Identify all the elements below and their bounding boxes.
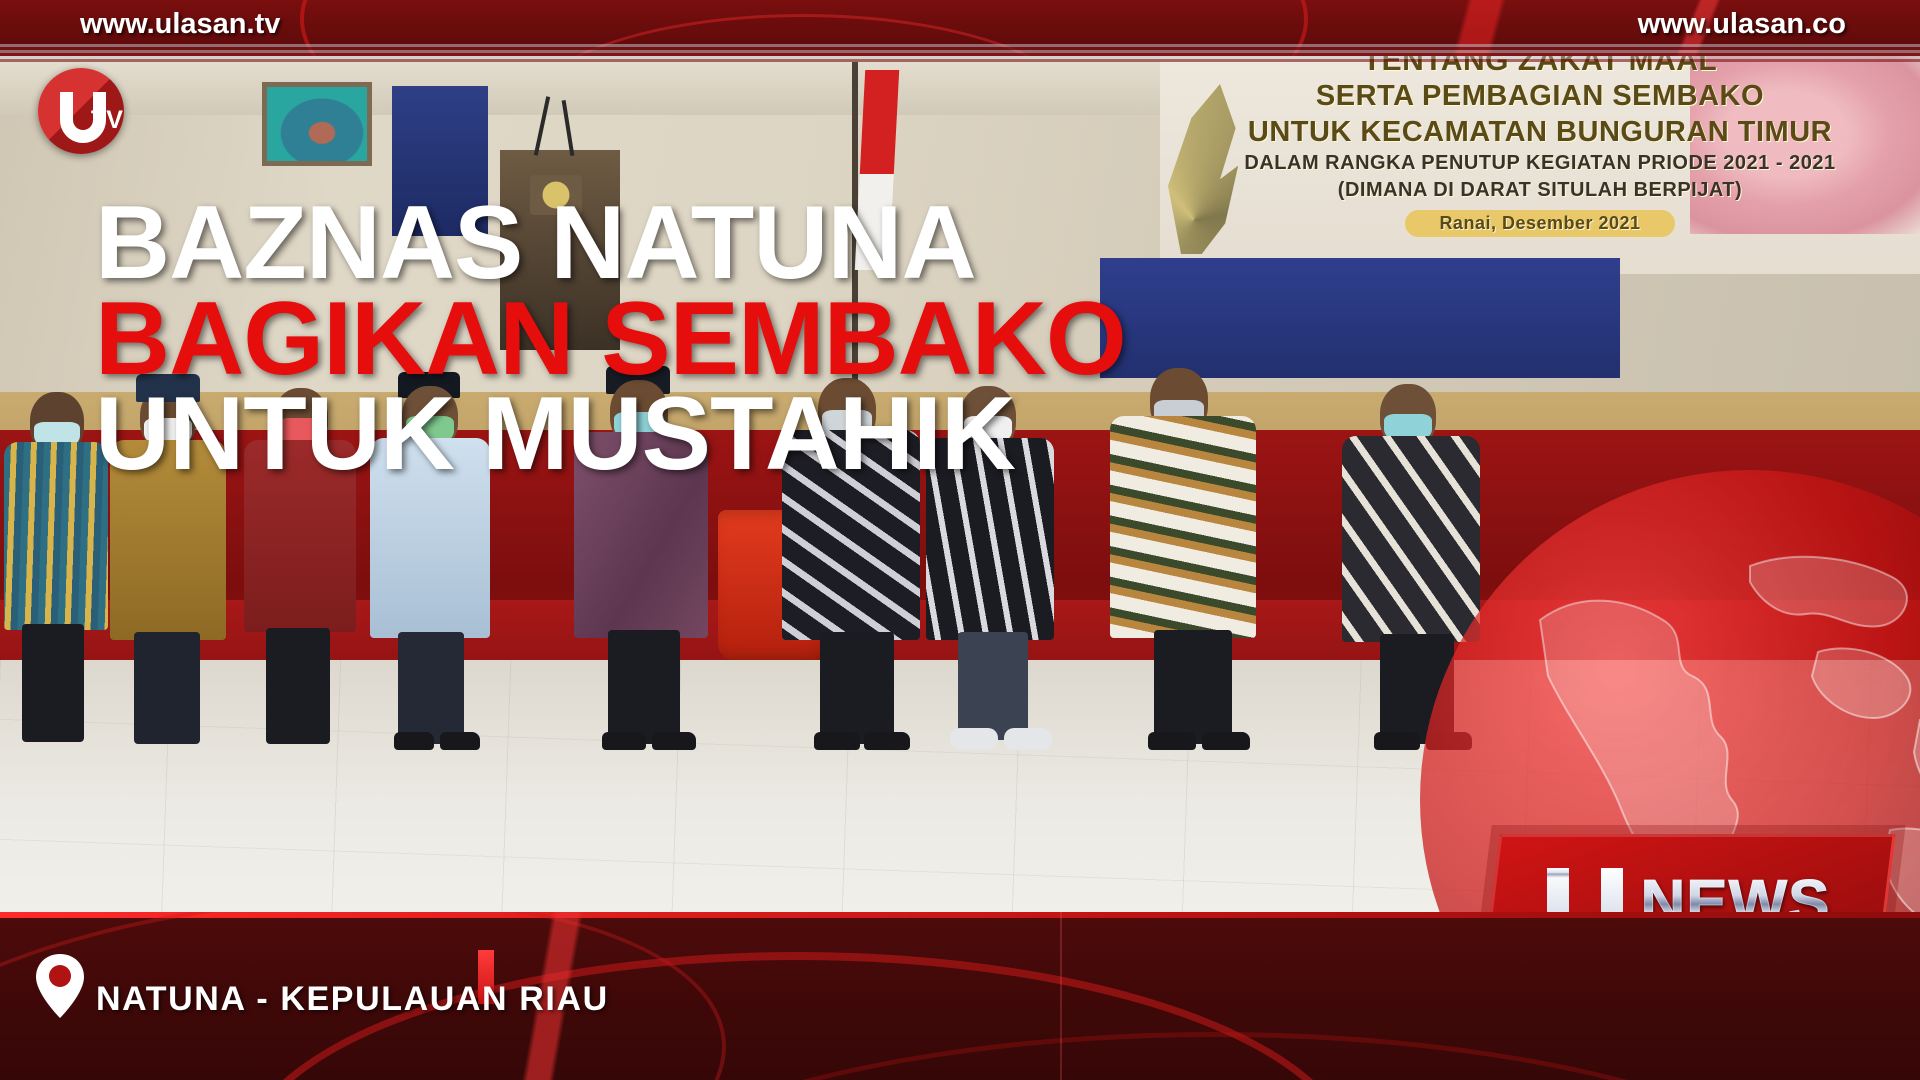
- website-url-co[interactable]: www.ulasan.co: [1638, 8, 1846, 41]
- top-bar-stripes: [0, 44, 1920, 62]
- banner-line-3: UNTUK KECAMATAN BUNGURAN TIMUR: [1160, 116, 1920, 149]
- svg-text:TV: TV: [91, 106, 123, 134]
- decor-vertical-line: [1060, 912, 1062, 1080]
- map-pin-icon: [34, 952, 86, 1020]
- news-thumbnail: TENTANG ZAKAT MAAL SERTA PEMBAGIAN SEMBA…: [0, 0, 1920, 1080]
- banner-line-2: SERTA PEMBAGIAN SEMBAKO: [1160, 80, 1920, 113]
- headline-line-2: BAGIKAN SEMBAKO: [95, 292, 1275, 388]
- bottom-location-bar: NATUNA - KEPULAUAN RIAU: [0, 912, 1920, 1080]
- location-label: NATUNA - KEPULAUAN RIAU: [96, 980, 609, 1019]
- utv-logo[interactable]: TV: [38, 68, 124, 154]
- headline-line-3: UNTUK MUSTAHIK: [95, 387, 1275, 483]
- wall-painting: [262, 82, 372, 166]
- tv-letters-icon: TV: [91, 106, 123, 134]
- website-url-tv[interactable]: www.ulasan.tv: [80, 8, 280, 41]
- banner-line-4: DALAM RANGKA PENUTUP KEGIATAN PRIODE 202…: [1160, 152, 1920, 175]
- headline: BAZNAS NATUNA BAGIKAN SEMBAKO UNTUK MUST…: [95, 196, 1275, 483]
- headline-line-1: BAZNAS NATUNA: [95, 196, 1275, 292]
